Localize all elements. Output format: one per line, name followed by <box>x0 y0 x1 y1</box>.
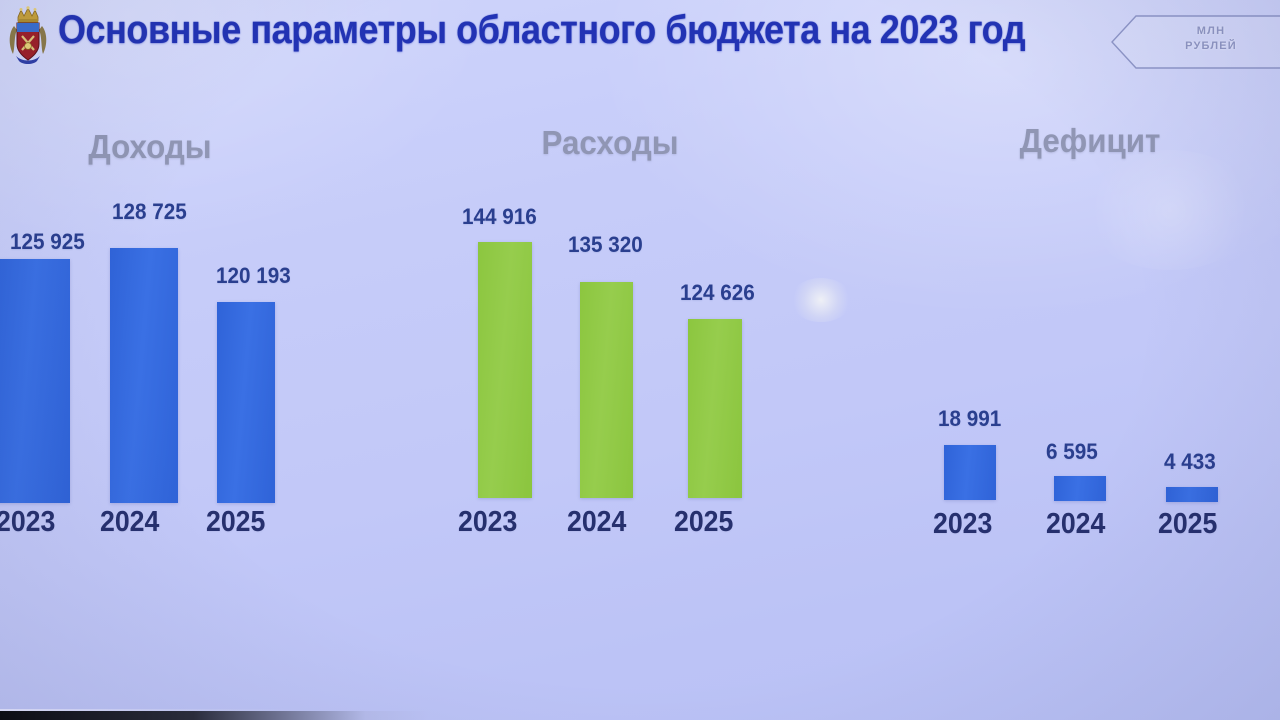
chart-group-title: Дефицит <box>948 122 1233 160</box>
unit-badge-line1: МЛН <box>1146 24 1276 39</box>
bar-value-income-2023: 125 925 <box>10 229 85 255</box>
bar-year-income-2025: 2025 <box>206 506 265 539</box>
bar-deficit-2023 <box>944 445 996 500</box>
bar-year-income-2024: 2024 <box>100 506 159 539</box>
presentation-slide: Основные параметры областного бюджета на… <box>0 0 1280 720</box>
bar-expenses-2024 <box>580 282 633 498</box>
chart-group-income: Доходы 125 925 2023 128 725 2024 120 193… <box>0 110 330 550</box>
bar-year-expenses-2024: 2024 <box>567 506 626 539</box>
chart-group-title: Расходы <box>468 124 753 162</box>
bar-year-deficit-2024: 2024 <box>1046 508 1105 541</box>
bar-deficit-2025 <box>1166 487 1218 502</box>
bar-year-deficit-2023: 2023 <box>933 508 992 541</box>
bar-deficit-2024 <box>1054 476 1106 501</box>
bar-value-expenses-2023: 144 916 <box>462 204 537 230</box>
bar-value-income-2024: 128 725 <box>112 199 187 225</box>
bar-expenses-2023 <box>478 242 532 498</box>
coat-of-arms-icon <box>4 6 52 68</box>
screen-bezel <box>0 711 430 720</box>
page-title: Основные параметры областного бюджета на… <box>58 8 1025 53</box>
unit-badge-text: МЛН РУБЛЕЙ <box>1146 24 1276 54</box>
bar-value-expenses-2025: 124 626 <box>680 280 755 306</box>
bar-year-deficit-2025: 2025 <box>1158 508 1217 541</box>
slide-header: Основные параметры областного бюджета на… <box>0 0 1280 80</box>
chart-group-deficit: Дефицит 18 991 2023 6 595 2024 4 433 202… <box>920 110 1260 560</box>
projector-glare <box>790 278 852 322</box>
bar-value-deficit-2024: 6 595 <box>1046 439 1098 465</box>
bar-income-2024 <box>110 248 178 503</box>
bar-value-income-2025: 120 193 <box>216 263 291 289</box>
bar-expenses-2025 <box>688 319 742 498</box>
unit-badge-line2: РУБЛЕЙ <box>1146 39 1276 54</box>
chart-group-expenses: Расходы 144 916 2023 135 320 2024 124 62… <box>440 110 780 550</box>
bar-income-2025 <box>217 302 275 503</box>
bar-year-expenses-2025: 2025 <box>674 506 733 539</box>
unit-badge: МЛН РУБЛЕЙ <box>1110 14 1280 70</box>
bar-income-2023 <box>0 259 70 503</box>
bar-value-deficit-2025: 4 433 <box>1164 449 1216 475</box>
bar-year-expenses-2023: 2023 <box>458 506 517 539</box>
chart-group-title: Доходы <box>8 128 293 166</box>
bar-year-income-2023: 2023 <box>0 506 55 539</box>
bar-value-deficit-2023: 18 991 <box>938 406 1001 432</box>
bar-value-expenses-2024: 135 320 <box>568 232 643 258</box>
